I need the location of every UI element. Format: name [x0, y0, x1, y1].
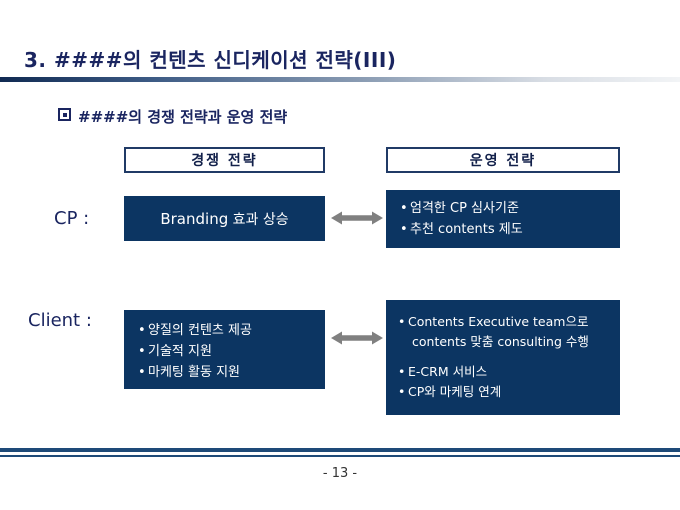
bullet-dot-icon: •	[398, 362, 408, 382]
list-item: •마케팅 활동 지원	[138, 362, 325, 383]
list-item: •기술적 지원	[138, 341, 325, 362]
client-competitive-strategy-box: •양질의 컨텐츠 제공 •기술적 지원 •마케팅 활동 지원	[124, 310, 325, 389]
list-item: •CP와 마케팅 연계	[398, 382, 620, 402]
square-bullet-icon	[58, 108, 71, 121]
list-item-label: 엄격한 CP 심사기준	[410, 201, 519, 216]
list-item-label: CP와 마케팅 연계	[408, 384, 501, 399]
list-item-label: Contents Executive team으로	[408, 314, 588, 329]
list-item: •추천 contents 제도	[400, 219, 620, 240]
list-item-label: E-CRM 서비스	[408, 364, 487, 379]
list-item-label: 기술적 지원	[148, 344, 212, 359]
row-label-cp: CP :	[54, 208, 89, 229]
page-number: - 13 -	[0, 466, 680, 481]
row-label-client: Client :	[28, 310, 92, 331]
bullet-dot-icon: •	[400, 219, 410, 240]
bullet-dot-icon: •	[138, 362, 148, 383]
double-headed-arrow-icon-client	[331, 331, 383, 345]
list-item: •Contents Executive team으로	[398, 312, 620, 332]
bullet-dot-icon: •	[398, 382, 408, 402]
cp-branding-label-ko: 효과 상승	[228, 212, 288, 228]
list-item-label: 추천 contents 제도	[410, 222, 523, 237]
slide-canvas: 3. ####의 컨텐츠 신디케이션 전략(III) ####의 경쟁 전략과 …	[0, 0, 680, 510]
list-item: •엄격한 CP 심사기준	[400, 198, 620, 219]
list-item-label: 마케팅 활동 지원	[148, 365, 240, 380]
bullet-dot-icon: •	[398, 312, 408, 332]
cp-operational-strategy-box: •엄격한 CP 심사기준 •추천 contents 제도	[386, 190, 620, 248]
list-item: •E-CRM 서비스	[398, 362, 620, 382]
bullet-dot-icon: •	[400, 198, 410, 219]
list-item-label: 양질의 컨텐츠 제공	[148, 323, 252, 338]
section-subtitle: ####의 경쟁 전략과 운영 전략	[58, 106, 287, 127]
cp-branding-label-en: Branding	[160, 210, 228, 228]
section-subtitle-text: ####의 경쟁 전략과 운영 전략	[78, 108, 287, 126]
list-item: •양질의 컨텐츠 제공	[138, 320, 325, 341]
title-divider	[0, 77, 680, 82]
client-operational-strategy-box: •Contents Executive team으로 contents 맞춤 c…	[386, 300, 620, 415]
page-title: 3. ####의 컨텐츠 신디케이션 전략(III)	[24, 44, 396, 73]
double-headed-arrow-icon-cp	[331, 211, 383, 225]
spacer	[398, 352, 620, 362]
column-header-operational-strategy: 운영 전략	[386, 147, 620, 173]
bullet-dot-icon: •	[138, 341, 148, 362]
footer-divider-thin	[0, 455, 680, 457]
footer-divider-thick	[0, 448, 680, 452]
cp-competitive-strategy-box: Branding 효과 상승	[124, 196, 325, 241]
bullet-dot-icon: •	[138, 320, 148, 341]
column-header-competitive-strategy: 경쟁 전략	[124, 147, 325, 173]
list-item-continuation: contents 맞춤 consulting 수행	[398, 332, 620, 352]
